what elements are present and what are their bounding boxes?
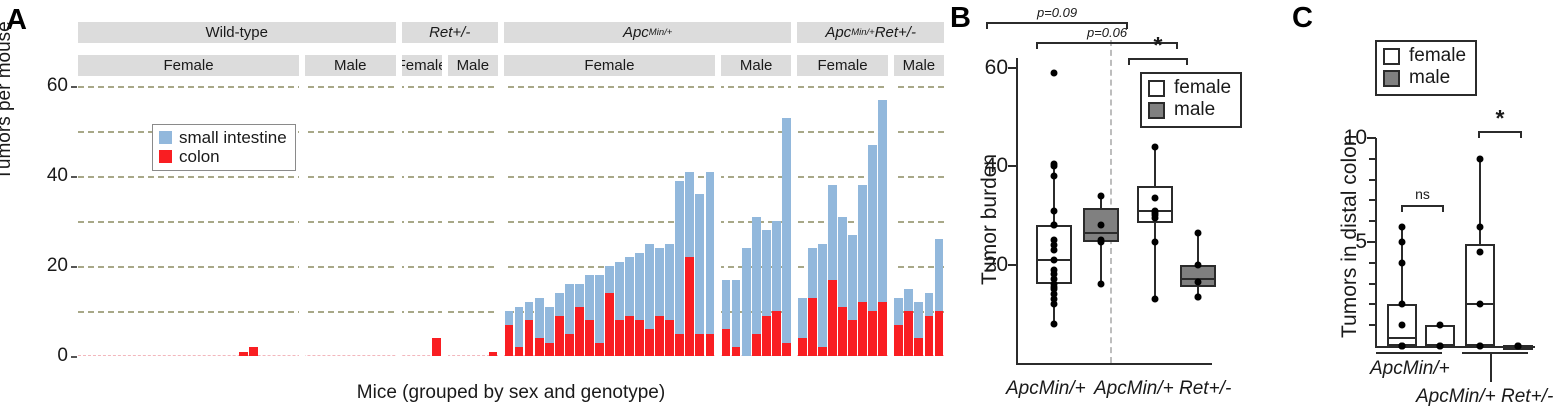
data-point xyxy=(1152,207,1159,214)
bar-segment-colon xyxy=(595,343,604,357)
sex-strip: Male xyxy=(894,55,944,76)
stacked-bar xyxy=(545,307,554,357)
data-point xyxy=(1051,266,1058,273)
bar-segment-colon xyxy=(575,307,584,357)
data-point xyxy=(1195,261,1202,268)
panel-a-y-tick-label: 40 xyxy=(28,165,68,187)
data-point xyxy=(1152,296,1159,303)
bracket-bar xyxy=(1128,58,1188,60)
bar-segment-colon xyxy=(722,329,731,356)
bar-segment-small-intestine xyxy=(565,284,574,334)
bar-segment-colon xyxy=(625,316,634,357)
bar-segment-small-intestine xyxy=(742,248,751,356)
legend-label: male xyxy=(1174,99,1215,121)
bar-segment-small-intestine xyxy=(595,275,604,343)
legend-item: female xyxy=(1148,77,1231,99)
data-point xyxy=(1152,239,1159,246)
stacked-bar xyxy=(655,248,664,356)
sex-strip: Male xyxy=(305,55,395,76)
bar-segment-colon xyxy=(685,257,694,356)
bracket-leg-right xyxy=(1442,205,1444,212)
bar-segment-colon xyxy=(695,334,704,357)
stacked-bar xyxy=(432,338,441,356)
y-tick xyxy=(1008,165,1017,167)
stacked-bar xyxy=(818,244,827,357)
bar-segment-small-intestine xyxy=(904,289,913,312)
data-point xyxy=(1051,160,1058,167)
y-minor-tick xyxy=(1369,283,1376,285)
bar-segment-small-intestine xyxy=(722,280,731,330)
stacked-bar xyxy=(555,293,564,356)
bar-segment-small-intestine xyxy=(575,284,584,307)
facet-separator xyxy=(396,86,402,356)
panel-a-y-tick-label: 0 xyxy=(28,345,68,367)
stacked-bar xyxy=(868,145,877,357)
bar-segment-colon xyxy=(818,347,827,356)
significance-bracket xyxy=(1401,205,1444,214)
stacked-bar xyxy=(752,217,761,357)
data-point xyxy=(1195,229,1202,236)
stacked-bar xyxy=(645,244,654,357)
bar-segment-colon xyxy=(894,325,903,357)
stacked-bar xyxy=(525,302,534,356)
sex-strip: Female xyxy=(402,55,442,76)
category-underline xyxy=(1376,352,1442,354)
data-point xyxy=(1477,155,1484,162)
y-axis-spine xyxy=(1016,58,1018,363)
bar-segment-small-intestine xyxy=(605,266,614,293)
stacked-bar xyxy=(914,302,923,356)
data-point xyxy=(1399,343,1406,350)
panel-a-y-tick xyxy=(71,266,77,268)
y-tick xyxy=(1008,67,1017,69)
panel-a: A Wild-typeRet+/-ApcMin/+ApcMin/+ Ret+/-… xyxy=(0,0,950,415)
bar-segment-colon xyxy=(752,334,761,357)
facet-separator xyxy=(888,86,894,356)
facet-separator xyxy=(715,86,721,356)
panel-b: B 604020Tumor burdenp=0.09p=0.06*ApcMin/… xyxy=(950,0,1250,415)
legend-item: male xyxy=(1148,99,1231,121)
bar-segment-small-intestine xyxy=(615,262,624,321)
data-point xyxy=(1399,301,1406,308)
bar-segment-small-intestine xyxy=(828,185,837,280)
stacked-bar xyxy=(772,221,781,356)
bar-segment-small-intestine xyxy=(665,244,674,321)
stacked-bar xyxy=(695,194,704,356)
facet-separator xyxy=(442,86,448,356)
bar-segment-small-intestine xyxy=(645,244,654,330)
bar-segment-colon xyxy=(808,298,817,357)
data-point xyxy=(1477,343,1484,350)
box-median-line xyxy=(1387,337,1417,339)
panel-c: C 105Tumors in distal colonns*ApcMin/+Ap… xyxy=(1250,0,1556,415)
legend-item: female xyxy=(1383,45,1466,67)
p-value-label: p=0.09 xyxy=(986,5,1128,20)
bar-segment-colon xyxy=(665,320,674,356)
panel-a-y-tick-label: 20 xyxy=(28,255,68,277)
y-minor-tick xyxy=(1369,324,1376,326)
bar-segment-small-intestine xyxy=(818,244,827,348)
stacked-bar xyxy=(904,289,913,357)
bar-segment-colon xyxy=(585,320,594,356)
bracket-bar xyxy=(986,22,1128,24)
bar-segment-small-intestine xyxy=(868,145,877,312)
data-point xyxy=(1195,293,1202,300)
bar-segment-colon xyxy=(545,343,554,357)
stacked-bar xyxy=(515,307,524,357)
bar-segment-small-intestine xyxy=(655,248,664,316)
stacked-bar xyxy=(935,239,944,356)
legend-swatch-icon xyxy=(159,150,172,163)
stacked-bar xyxy=(489,352,498,357)
bar-segment-small-intestine xyxy=(752,217,761,334)
bar-segment-colon xyxy=(706,334,715,357)
bar-segment-colon xyxy=(828,280,837,357)
category-tick xyxy=(1490,354,1492,382)
data-point xyxy=(1399,259,1406,266)
significance-star: * xyxy=(1478,107,1522,130)
panel-a-y-tick-label: 60 xyxy=(28,75,68,97)
data-point xyxy=(1051,207,1058,214)
bar-segment-colon xyxy=(925,316,934,357)
bracket-leg-right xyxy=(1520,131,1522,138)
bar-segment-colon xyxy=(878,302,887,356)
category-label: ApcMin/+ xyxy=(1006,378,1086,400)
bar-segment-colon xyxy=(838,307,847,357)
legend-swatch-icon xyxy=(1148,102,1165,119)
stacked-bar xyxy=(798,298,807,357)
y-minor-tick xyxy=(1369,303,1376,305)
stacked-bar xyxy=(782,118,791,357)
sex-strip: Female xyxy=(504,55,715,76)
bar-segment-colon xyxy=(249,347,258,356)
bar-segment-colon xyxy=(239,352,248,357)
bar-segment-colon xyxy=(525,320,534,356)
bar-segment-colon xyxy=(782,343,791,357)
bracket-bar xyxy=(1401,205,1444,207)
bar-segment-colon xyxy=(935,311,944,356)
legend-item: colon xyxy=(159,147,287,166)
stacked-bar xyxy=(675,181,684,357)
bar-segment-small-intestine xyxy=(505,311,514,325)
stacked-bar xyxy=(239,352,248,357)
bar-segment-small-intestine xyxy=(808,248,817,298)
x-axis-spine xyxy=(1016,363,1212,365)
data-point xyxy=(1152,143,1159,150)
stacked-bar xyxy=(732,280,741,357)
bar-segment-colon xyxy=(565,334,574,357)
stacked-bar xyxy=(575,284,584,356)
y-tick xyxy=(1008,264,1017,266)
gridline xyxy=(78,221,944,223)
legend-label: female xyxy=(1409,45,1466,67)
bracket-leg-left xyxy=(1401,205,1403,212)
genotype-strip: ApcMin/+ xyxy=(504,22,791,43)
stacked-bar xyxy=(565,284,574,356)
stacked-bar xyxy=(685,172,694,357)
bar-segment-colon xyxy=(904,311,913,356)
y-tick-label: 60 xyxy=(958,56,1008,80)
y-minor-tick xyxy=(1369,179,1376,181)
legend-label: female xyxy=(1174,77,1231,99)
bar-segment-colon xyxy=(848,320,857,356)
bar-segment-small-intestine xyxy=(535,298,544,339)
data-point xyxy=(1399,239,1406,246)
data-point xyxy=(1051,69,1058,76)
stacked-bar xyxy=(635,253,644,357)
bracket-leg-right xyxy=(1186,58,1188,65)
legend-label: colon xyxy=(179,147,220,166)
category-label: ApcMin/+ Ret+/- xyxy=(1416,386,1553,408)
bar-segment-small-intestine xyxy=(706,172,715,334)
data-point xyxy=(1098,281,1105,288)
panel-a-legend: small intestinecolon xyxy=(152,124,296,171)
bracket-bar xyxy=(1478,131,1522,133)
stacked-bar xyxy=(762,230,771,356)
bar-segment-colon xyxy=(675,334,684,357)
stacked-bar xyxy=(605,266,614,356)
stacked-bar xyxy=(249,347,258,356)
box-whisker xyxy=(1154,147,1156,300)
y-axis-title: Tumors in distal colon xyxy=(1338,135,1362,338)
y-axis-title: Tumor burden xyxy=(978,154,1002,285)
legend-label: male xyxy=(1409,67,1450,89)
sex-strip: Male xyxy=(721,55,791,76)
y-tick xyxy=(1367,241,1376,243)
data-point xyxy=(1051,222,1058,229)
data-point xyxy=(1051,173,1058,180)
facet-separator xyxy=(791,86,797,356)
genotype-strip: Wild-type xyxy=(78,22,396,43)
box-median-line xyxy=(1083,232,1119,234)
stacked-bar xyxy=(535,298,544,357)
bar-segment-colon xyxy=(868,311,877,356)
y-minor-tick xyxy=(1369,158,1376,160)
panel-a-y-tick xyxy=(71,176,77,178)
bar-segment-small-intestine xyxy=(878,100,887,303)
gridline xyxy=(78,86,944,88)
data-point xyxy=(1399,224,1406,231)
data-point xyxy=(1477,249,1484,256)
bar-segment-colon xyxy=(635,320,644,356)
stacked-bar xyxy=(828,185,837,356)
bar-segment-colon xyxy=(645,329,654,356)
bar-segment-small-intestine xyxy=(894,298,903,325)
panel-b-letter: B xyxy=(950,4,971,33)
stacked-bar xyxy=(848,235,857,357)
y-minor-tick xyxy=(1369,220,1376,222)
bar-segment-colon xyxy=(555,316,564,357)
bar-segment-small-intestine xyxy=(838,217,847,307)
category-label: ApcMin/+ xyxy=(1370,358,1450,380)
bar-segment-colon xyxy=(535,338,544,356)
bar-segment-small-intestine xyxy=(675,181,684,334)
stacked-bar xyxy=(505,311,514,356)
bar-segment-small-intestine xyxy=(555,293,564,316)
data-point xyxy=(1051,320,1058,327)
stacked-bar xyxy=(858,185,867,356)
data-point xyxy=(1477,301,1484,308)
sex-strip: Male xyxy=(448,55,498,76)
stacked-bar xyxy=(665,244,674,357)
bar-segment-small-intestine xyxy=(585,275,594,320)
stacked-bar xyxy=(894,298,903,357)
bar-segment-small-intestine xyxy=(525,302,534,320)
data-point xyxy=(1195,278,1202,285)
y-minor-tick xyxy=(1369,262,1376,264)
significance-bracket xyxy=(1478,131,1522,140)
genotype-strip: ApcMin/+ Ret+/- xyxy=(797,22,944,43)
bracket-leg-left xyxy=(986,22,988,29)
bar-segment-colon xyxy=(615,320,624,356)
bar-segment-colon xyxy=(489,352,498,357)
bar-segment-small-intestine xyxy=(858,185,867,302)
bar-segment-small-intestine xyxy=(732,280,741,348)
bar-segment-colon xyxy=(798,338,807,356)
stacked-bar xyxy=(595,275,604,356)
bar-segment-small-intestine xyxy=(914,302,923,338)
stacked-bar xyxy=(925,293,934,356)
bar-segment-small-intestine xyxy=(695,194,704,334)
category-underline xyxy=(1462,352,1528,354)
data-point xyxy=(1051,256,1058,263)
bar-segment-small-intestine xyxy=(625,257,634,316)
stacked-bar xyxy=(808,248,817,356)
bracket-leg-left xyxy=(1478,131,1480,138)
bar-segment-colon xyxy=(772,311,781,356)
bar-segment-colon xyxy=(605,293,614,356)
panel-b-legend: femalemale xyxy=(1140,72,1242,128)
data-point xyxy=(1152,195,1159,202)
stacked-bar xyxy=(878,100,887,357)
bar-segment-small-intestine xyxy=(515,307,524,348)
bar-segment-small-intestine xyxy=(635,253,644,321)
legend-item: small intestine xyxy=(159,128,287,147)
bar-segment-colon xyxy=(762,316,771,357)
legend-swatch-icon xyxy=(1383,70,1400,87)
bar-segment-small-intestine xyxy=(762,230,771,316)
bar-segment-small-intestine xyxy=(935,239,944,311)
panel-c-legend: femalemale xyxy=(1375,40,1477,96)
bar-segment-small-intestine xyxy=(545,307,554,343)
bar-segment-small-intestine xyxy=(685,172,694,258)
bar-segment-small-intestine xyxy=(798,298,807,339)
y-minor-tick xyxy=(1369,199,1376,201)
data-point xyxy=(1515,343,1522,350)
box-plot-box xyxy=(1465,244,1495,346)
significance-bracket xyxy=(1128,58,1188,67)
stacked-bar xyxy=(585,275,594,356)
bar-segment-colon xyxy=(858,302,867,356)
bar-segment-small-intestine xyxy=(772,221,781,311)
panel-c-letter: C xyxy=(1292,4,1313,33)
panel-a-y-tick xyxy=(71,86,77,88)
group-divider xyxy=(1110,40,1112,363)
bar-segment-colon xyxy=(432,338,441,356)
y-tick xyxy=(1367,137,1376,139)
bar-segment-colon xyxy=(515,347,524,356)
legend-swatch-icon xyxy=(1148,80,1165,97)
sex-strip: Female xyxy=(78,55,299,76)
data-point xyxy=(1437,322,1444,329)
bar-segment-small-intestine xyxy=(782,118,791,343)
legend-swatch-icon xyxy=(1383,48,1400,65)
bracket-leg-left xyxy=(1128,58,1130,65)
bar-segment-colon xyxy=(655,316,664,357)
data-point xyxy=(1098,192,1105,199)
bar-segment-colon xyxy=(914,338,923,356)
bar-segment-colon xyxy=(505,325,514,357)
category-label: ApcMin/+ Ret+/- xyxy=(1094,378,1231,400)
data-point xyxy=(1399,322,1406,329)
data-point xyxy=(1477,224,1484,231)
sex-strip: Female xyxy=(797,55,887,76)
panel-a-x-axis-label: Mice (grouped by sex and genotype) xyxy=(78,382,944,404)
stacked-bar xyxy=(625,257,634,356)
data-point xyxy=(1051,237,1058,244)
stacked-bar xyxy=(838,217,847,357)
legend-swatch-icon xyxy=(159,131,172,144)
bracket-leg-left xyxy=(1036,42,1038,49)
stacked-bar xyxy=(615,262,624,357)
significance-ns-label: ns xyxy=(1401,186,1444,202)
bar-segment-colon xyxy=(732,347,741,356)
facet-separator xyxy=(299,86,305,356)
data-point xyxy=(1098,222,1105,229)
gridline xyxy=(78,176,944,178)
stacked-bar xyxy=(706,172,715,357)
facet-separator xyxy=(498,86,504,356)
bar-segment-small-intestine xyxy=(925,293,934,316)
legend-item: male xyxy=(1383,67,1466,89)
panel-a-y-axis-label: Tumors per mouse xyxy=(0,21,16,180)
stacked-bar xyxy=(742,248,751,356)
data-point xyxy=(1437,343,1444,350)
legend-label: small intestine xyxy=(179,128,287,147)
significance-star: * xyxy=(1128,34,1188,57)
stacked-bar xyxy=(722,280,731,357)
genotype-strip: Ret+/- xyxy=(402,22,498,43)
bar-segment-small-intestine xyxy=(848,235,857,321)
data-point xyxy=(1098,237,1105,244)
panel-a-y-tick xyxy=(71,356,77,358)
